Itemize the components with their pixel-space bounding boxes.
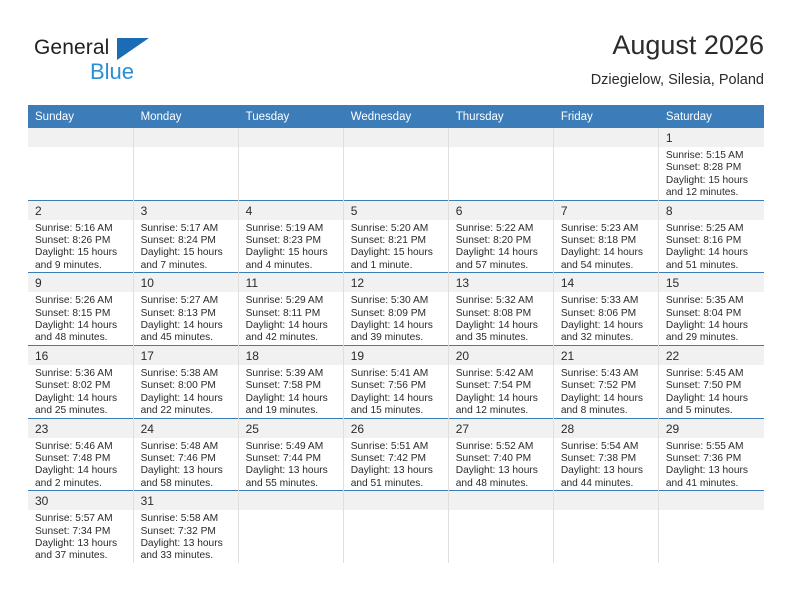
calendar-day-cell[interactable]: 20Sunrise: 5:42 AMSunset: 7:54 PMDayligh… xyxy=(448,345,553,418)
sunset-text: Sunset: 7:54 PM xyxy=(456,380,548,392)
sunset-text: Sunset: 7:56 PM xyxy=(351,380,443,392)
day-number: 16 xyxy=(28,346,133,365)
day-details: Sunrise: 5:25 AMSunset: 8:16 PMDaylight:… xyxy=(659,220,764,273)
daylight-text-line1: Daylight: 14 hours xyxy=(561,393,653,405)
calendar-page: General Blue August 2026 Dziegielow, Sil… xyxy=(0,0,792,612)
daylight-text-line2: and 19 minutes. xyxy=(246,405,338,417)
day-number: 13 xyxy=(449,273,553,292)
daylight-text-line2: and 22 minutes. xyxy=(141,405,233,417)
calendar-day-cell[interactable]: 2Sunrise: 5:16 AMSunset: 8:26 PMDaylight… xyxy=(28,200,133,273)
day-number: 25 xyxy=(239,419,343,438)
sunrise-text: Sunrise: 5:51 AM xyxy=(351,441,443,453)
sunset-text: Sunset: 8:13 PM xyxy=(141,308,233,320)
daylight-text-line1: Daylight: 14 hours xyxy=(246,320,338,332)
daylight-text-line1: Daylight: 15 hours xyxy=(141,247,233,259)
calendar-day-cell[interactable]: 18Sunrise: 5:39 AMSunset: 7:58 PMDayligh… xyxy=(238,345,343,418)
sunrise-text: Sunrise: 5:20 AM xyxy=(351,223,443,235)
day-number xyxy=(449,128,553,147)
sunrise-text: Sunrise: 5:15 AM xyxy=(666,150,759,162)
calendar-week-row: 1Sunrise: 5:15 AMSunset: 8:28 PMDaylight… xyxy=(28,128,764,200)
sunrise-text: Sunrise: 5:25 AM xyxy=(666,223,759,235)
sunset-text: Sunset: 7:38 PM xyxy=(561,453,653,465)
sunset-text: Sunset: 7:48 PM xyxy=(35,453,128,465)
daylight-text-line2: and 55 minutes. xyxy=(246,478,338,490)
calendar-cell-empty xyxy=(343,128,448,200)
sunrise-text: Sunrise: 5:41 AM xyxy=(351,368,443,380)
calendar-day-cell[interactable]: 8Sunrise: 5:25 AMSunset: 8:16 PMDaylight… xyxy=(658,200,763,273)
daylight-text-line1: Daylight: 14 hours xyxy=(351,393,443,405)
daylight-text-line2: and 42 minutes. xyxy=(246,332,338,344)
daylight-text-line2: and 51 minutes. xyxy=(666,260,759,272)
day-number: 20 xyxy=(449,346,553,365)
sunrise-text: Sunrise: 5:43 AM xyxy=(561,368,653,380)
calendar-day-cell[interactable]: 10Sunrise: 5:27 AMSunset: 8:13 PMDayligh… xyxy=(133,273,238,346)
daylight-text-line1: Daylight: 14 hours xyxy=(141,320,233,332)
daylight-text-line1: Daylight: 14 hours xyxy=(351,320,443,332)
day-number: 2 xyxy=(28,201,133,220)
calendar-day-cell[interactable]: 14Sunrise: 5:33 AMSunset: 8:06 PMDayligh… xyxy=(553,273,658,346)
calendar-day-cell[interactable]: 4Sunrise: 5:19 AMSunset: 8:23 PMDaylight… xyxy=(238,200,343,273)
calendar-cell-empty xyxy=(238,128,343,200)
sunrise-text: Sunrise: 5:55 AM xyxy=(666,441,759,453)
daylight-text-line1: Daylight: 15 hours xyxy=(246,247,338,259)
sunset-text: Sunset: 7:36 PM xyxy=(666,453,759,465)
calendar-day-cell[interactable]: 24Sunrise: 5:48 AMSunset: 7:46 PMDayligh… xyxy=(133,418,238,491)
daylight-text-line1: Daylight: 14 hours xyxy=(666,320,759,332)
daylight-text-line2: and 12 minutes. xyxy=(666,187,759,199)
daylight-text-line2: and 37 minutes. xyxy=(35,550,128,562)
day-details: Sunrise: 5:51 AMSunset: 7:42 PMDaylight:… xyxy=(344,438,448,491)
day-number: 4 xyxy=(239,201,343,220)
daylight-text-line1: Daylight: 13 hours xyxy=(246,465,338,477)
day-details: Sunrise: 5:19 AMSunset: 8:23 PMDaylight:… xyxy=(239,220,343,273)
calendar-cell-empty xyxy=(133,128,238,200)
calendar-week-row: 16Sunrise: 5:36 AMSunset: 8:02 PMDayligh… xyxy=(28,345,764,418)
daylight-text-line1: Daylight: 14 hours xyxy=(561,247,653,259)
weekday-header-saturday: Saturday xyxy=(658,105,763,128)
daylight-text-line1: Daylight: 13 hours xyxy=(351,465,443,477)
sunset-text: Sunset: 8:02 PM xyxy=(35,380,128,392)
day-details: Sunrise: 5:20 AMSunset: 8:21 PMDaylight:… xyxy=(344,220,448,273)
day-number: 26 xyxy=(344,419,448,438)
day-number: 22 xyxy=(659,346,764,365)
weekday-header-tuesday: Tuesday xyxy=(238,105,343,128)
day-details: Sunrise: 5:23 AMSunset: 8:18 PMDaylight:… xyxy=(554,220,658,273)
calendar-day-cell[interactable]: 12Sunrise: 5:30 AMSunset: 8:09 PMDayligh… xyxy=(343,273,448,346)
day-number: 19 xyxy=(344,346,448,365)
title-block: August 2026 Dziegielow, Silesia, Poland xyxy=(591,28,764,91)
sunrise-text: Sunrise: 5:19 AM xyxy=(246,223,338,235)
sunset-text: Sunset: 7:46 PM xyxy=(141,453,233,465)
day-details: Sunrise: 5:32 AMSunset: 8:08 PMDaylight:… xyxy=(449,292,553,345)
sunrise-text: Sunrise: 5:57 AM xyxy=(35,513,128,525)
sunset-text: Sunset: 8:04 PM xyxy=(666,308,759,320)
sunset-text: Sunset: 8:20 PM xyxy=(456,235,548,247)
daylight-text-line1: Daylight: 14 hours xyxy=(35,393,128,405)
day-number xyxy=(28,128,133,147)
sunrise-text: Sunrise: 5:52 AM xyxy=(456,441,548,453)
sunset-text: Sunset: 8:26 PM xyxy=(35,235,128,247)
day-number: 10 xyxy=(134,273,238,292)
calendar-day-cell[interactable]: 11Sunrise: 5:29 AMSunset: 8:11 PMDayligh… xyxy=(238,273,343,346)
page-header: General Blue August 2026 Dziegielow, Sil… xyxy=(28,28,764,98)
day-details: Sunrise: 5:33 AMSunset: 8:06 PMDaylight:… xyxy=(554,292,658,345)
daylight-text-line2: and 32 minutes. xyxy=(561,332,653,344)
sunrise-text: Sunrise: 5:32 AM xyxy=(456,295,548,307)
calendar-cell-empty xyxy=(343,491,448,563)
sunrise-text: Sunrise: 5:38 AM xyxy=(141,368,233,380)
daylight-text-line2: and 48 minutes. xyxy=(456,478,548,490)
sunset-text: Sunset: 8:08 PM xyxy=(456,308,548,320)
daylight-text-line2: and 7 minutes. xyxy=(141,260,233,272)
day-number: 28 xyxy=(554,419,658,438)
sunrise-text: Sunrise: 5:45 AM xyxy=(666,368,759,380)
sunrise-text: Sunrise: 5:27 AM xyxy=(141,295,233,307)
day-number xyxy=(344,491,448,510)
day-details: Sunrise: 5:43 AMSunset: 7:52 PMDaylight:… xyxy=(554,365,658,418)
calendar-day-cell[interactable]: 13Sunrise: 5:32 AMSunset: 8:08 PMDayligh… xyxy=(448,273,553,346)
calendar-cell-empty xyxy=(658,491,763,563)
calendar-day-cell[interactable]: 23Sunrise: 5:46 AMSunset: 7:48 PMDayligh… xyxy=(28,418,133,491)
daylight-text-line2: and 35 minutes. xyxy=(456,332,548,344)
calendar-day-cell[interactable]: 22Sunrise: 5:45 AMSunset: 7:50 PMDayligh… xyxy=(658,345,763,418)
calendar-day-cell[interactable]: 3Sunrise: 5:17 AMSunset: 8:24 PMDaylight… xyxy=(133,200,238,273)
day-number xyxy=(134,128,238,147)
day-number: 3 xyxy=(134,201,238,220)
calendar-day-cell[interactable]: 31Sunrise: 5:58 AMSunset: 7:32 PMDayligh… xyxy=(133,491,238,563)
daylight-text-line2: and 1 minute. xyxy=(351,260,443,272)
day-details: Sunrise: 5:17 AMSunset: 8:24 PMDaylight:… xyxy=(134,220,238,273)
day-details: Sunrise: 5:27 AMSunset: 8:13 PMDaylight:… xyxy=(134,292,238,345)
weekday-header-friday: Friday xyxy=(553,105,658,128)
day-details: Sunrise: 5:58 AMSunset: 7:32 PMDaylight:… xyxy=(134,510,238,563)
day-number: 27 xyxy=(449,419,553,438)
daylight-text-line1: Daylight: 14 hours xyxy=(456,320,548,332)
daylight-text-line1: Daylight: 15 hours xyxy=(351,247,443,259)
day-number: 7 xyxy=(554,201,658,220)
day-details: Sunrise: 5:46 AMSunset: 7:48 PMDaylight:… xyxy=(28,438,133,491)
weekday-header-monday: Monday xyxy=(133,105,238,128)
calendar-week-row: 2Sunrise: 5:16 AMSunset: 8:26 PMDaylight… xyxy=(28,200,764,273)
day-details: Sunrise: 5:42 AMSunset: 7:54 PMDaylight:… xyxy=(449,365,553,418)
day-number: 30 xyxy=(28,491,133,510)
day-details: Sunrise: 5:54 AMSunset: 7:38 PMDaylight:… xyxy=(554,438,658,491)
daylight-text-line1: Daylight: 14 hours xyxy=(456,247,548,259)
daylight-text-line2: and 15 minutes. xyxy=(351,405,443,417)
daylight-text-line1: Daylight: 14 hours xyxy=(141,393,233,405)
weekday-header-row: Sunday Monday Tuesday Wednesday Thursday… xyxy=(28,105,764,128)
sunrise-text: Sunrise: 5:29 AM xyxy=(246,295,338,307)
calendar-day-cell[interactable]: 9Sunrise: 5:26 AMSunset: 8:15 PMDaylight… xyxy=(28,273,133,346)
sunrise-text: Sunrise: 5:22 AM xyxy=(456,223,548,235)
sunset-text: Sunset: 7:40 PM xyxy=(456,453,548,465)
daylight-text-line1: Daylight: 15 hours xyxy=(35,247,128,259)
logo-text-general: General xyxy=(34,36,109,60)
day-number xyxy=(239,128,343,147)
calendar-day-cell[interactable]: 28Sunrise: 5:54 AMSunset: 7:38 PMDayligh… xyxy=(553,418,658,491)
calendar-day-cell[interactable]: 26Sunrise: 5:51 AMSunset: 7:42 PMDayligh… xyxy=(343,418,448,491)
day-number: 18 xyxy=(239,346,343,365)
daylight-text-line2: and 41 minutes. xyxy=(666,478,759,490)
daylight-text-line2: and 57 minutes. xyxy=(456,260,548,272)
day-details: Sunrise: 5:52 AMSunset: 7:40 PMDaylight:… xyxy=(449,438,553,491)
day-details: Sunrise: 5:55 AMSunset: 7:36 PMDaylight:… xyxy=(659,438,764,491)
calendar-day-cell[interactable]: 19Sunrise: 5:41 AMSunset: 7:56 PMDayligh… xyxy=(343,345,448,418)
daylight-text-line2: and 33 minutes. xyxy=(141,550,233,562)
day-details: Sunrise: 5:41 AMSunset: 7:56 PMDaylight:… xyxy=(344,365,448,418)
day-number: 14 xyxy=(554,273,658,292)
calendar-cell-empty xyxy=(553,128,658,200)
calendar-day-cell[interactable]: 30Sunrise: 5:57 AMSunset: 7:34 PMDayligh… xyxy=(28,491,133,563)
calendar-day-cell[interactable]: 7Sunrise: 5:23 AMSunset: 8:18 PMDaylight… xyxy=(553,200,658,273)
daylight-text-line2: and 58 minutes. xyxy=(141,478,233,490)
daylight-text-line2: and 25 minutes. xyxy=(35,405,128,417)
calendar-cell-empty xyxy=(28,128,133,200)
daylight-text-line1: Daylight: 15 hours xyxy=(666,175,759,187)
calendar-day-cell[interactable]: 16Sunrise: 5:36 AMSunset: 8:02 PMDayligh… xyxy=(28,345,133,418)
day-number: 8 xyxy=(659,201,764,220)
daylight-text-line2: and 9 minutes. xyxy=(35,260,128,272)
day-details: Sunrise: 5:39 AMSunset: 7:58 PMDaylight:… xyxy=(239,365,343,418)
general-blue-logo[interactable]: General Blue xyxy=(34,36,204,92)
daylight-text-line1: Daylight: 13 hours xyxy=(141,465,233,477)
daylight-text-line2: and 2 minutes. xyxy=(35,478,128,490)
day-number: 29 xyxy=(659,419,764,438)
day-details: Sunrise: 5:22 AMSunset: 8:20 PMDaylight:… xyxy=(449,220,553,273)
daylight-text-line2: and 39 minutes. xyxy=(351,332,443,344)
daylight-text-line2: and 48 minutes. xyxy=(35,332,128,344)
sunrise-text: Sunrise: 5:17 AM xyxy=(141,223,233,235)
page-subtitle-location: Dziegielow, Silesia, Poland xyxy=(591,69,764,91)
calendar-day-cell[interactable]: 5Sunrise: 5:20 AMSunset: 8:21 PMDaylight… xyxy=(343,200,448,273)
sunset-text: Sunset: 8:24 PM xyxy=(141,235,233,247)
calendar-cell-empty xyxy=(553,491,658,563)
sunset-text: Sunset: 8:16 PM xyxy=(666,235,759,247)
daylight-text-line1: Daylight: 13 hours xyxy=(35,538,128,550)
sunrise-text: Sunrise: 5:58 AM xyxy=(141,513,233,525)
sunset-text: Sunset: 8:28 PM xyxy=(666,162,759,174)
calendar-day-cell[interactable]: 21Sunrise: 5:43 AMSunset: 7:52 PMDayligh… xyxy=(553,345,658,418)
calendar-cell-empty xyxy=(238,491,343,563)
daylight-text-line1: Daylight: 14 hours xyxy=(456,393,548,405)
weekday-header-thursday: Thursday xyxy=(448,105,553,128)
calendar-day-cell[interactable]: 25Sunrise: 5:49 AMSunset: 7:44 PMDayligh… xyxy=(238,418,343,491)
daylight-text-line1: Daylight: 14 hours xyxy=(35,320,128,332)
sunrise-text: Sunrise: 5:42 AM xyxy=(456,368,548,380)
daylight-text-line1: Daylight: 14 hours xyxy=(666,393,759,405)
sunset-text: Sunset: 7:52 PM xyxy=(561,380,653,392)
day-details: Sunrise: 5:26 AMSunset: 8:15 PMDaylight:… xyxy=(28,292,133,345)
day-number xyxy=(554,128,658,147)
sunset-text: Sunset: 8:21 PM xyxy=(351,235,443,247)
day-details: Sunrise: 5:49 AMSunset: 7:44 PMDaylight:… xyxy=(239,438,343,491)
daylight-text-line1: Daylight: 14 hours xyxy=(666,247,759,259)
sunset-text: Sunset: 8:11 PM xyxy=(246,308,338,320)
sunrise-text: Sunrise: 5:48 AM xyxy=(141,441,233,453)
day-number xyxy=(239,491,343,510)
daylight-text-line1: Daylight: 13 hours xyxy=(561,465,653,477)
day-details: Sunrise: 5:16 AMSunset: 8:26 PMDaylight:… xyxy=(28,220,133,273)
calendar-day-cell[interactable]: 29Sunrise: 5:55 AMSunset: 7:36 PMDayligh… xyxy=(658,418,763,491)
daylight-text-line2: and 12 minutes. xyxy=(456,405,548,417)
sunrise-text: Sunrise: 5:16 AM xyxy=(35,223,128,235)
day-number xyxy=(449,491,553,510)
day-number: 1 xyxy=(659,128,764,147)
calendar-day-cell[interactable]: 1Sunrise: 5:15 AMSunset: 8:28 PMDaylight… xyxy=(658,128,763,200)
sunrise-text: Sunrise: 5:33 AM xyxy=(561,295,653,307)
logo-text-blue: Blue xyxy=(90,59,134,85)
daylight-text-line1: Daylight: 14 hours xyxy=(246,393,338,405)
calendar-cell-empty xyxy=(448,128,553,200)
daylight-text-line1: Daylight: 13 hours xyxy=(456,465,548,477)
day-number: 15 xyxy=(659,273,764,292)
sunset-text: Sunset: 8:15 PM xyxy=(35,308,128,320)
weekday-header-sunday: Sunday xyxy=(28,105,133,128)
daylight-text-line2: and 54 minutes. xyxy=(561,260,653,272)
sunset-text: Sunset: 7:34 PM xyxy=(35,526,128,538)
sunrise-text: Sunrise: 5:23 AM xyxy=(561,223,653,235)
daylight-text-line2: and 5 minutes. xyxy=(666,405,759,417)
sunrise-text: Sunrise: 5:46 AM xyxy=(35,441,128,453)
day-details: Sunrise: 5:15 AMSunset: 8:28 PMDaylight:… xyxy=(659,147,764,200)
sunrise-text: Sunrise: 5:36 AM xyxy=(35,368,128,380)
sunrise-text: Sunrise: 5:30 AM xyxy=(351,295,443,307)
calendar-day-cell[interactable]: 27Sunrise: 5:52 AMSunset: 7:40 PMDayligh… xyxy=(448,418,553,491)
page-title: August 2026 xyxy=(591,28,764,62)
sunset-text: Sunset: 8:18 PM xyxy=(561,235,653,247)
day-details: Sunrise: 5:35 AMSunset: 8:04 PMDaylight:… xyxy=(659,292,764,345)
day-number: 17 xyxy=(134,346,238,365)
day-details: Sunrise: 5:57 AMSunset: 7:34 PMDaylight:… xyxy=(28,510,133,563)
sunset-text: Sunset: 8:09 PM xyxy=(351,308,443,320)
day-details: Sunrise: 5:38 AMSunset: 8:00 PMDaylight:… xyxy=(134,365,238,418)
daylight-text-line2: and 51 minutes. xyxy=(351,478,443,490)
day-number: 12 xyxy=(344,273,448,292)
day-number: 5 xyxy=(344,201,448,220)
sunrise-text: Sunrise: 5:54 AM xyxy=(561,441,653,453)
sunrise-text: Sunrise: 5:39 AM xyxy=(246,368,338,380)
day-number: 21 xyxy=(554,346,658,365)
day-number: 24 xyxy=(134,419,238,438)
sunset-text: Sunset: 7:44 PM xyxy=(246,453,338,465)
day-number: 31 xyxy=(134,491,238,510)
daylight-text-line2: and 8 minutes. xyxy=(561,405,653,417)
calendar-table: Sunday Monday Tuesday Wednesday Thursday… xyxy=(28,105,764,563)
weekday-header-wednesday: Wednesday xyxy=(343,105,448,128)
sunset-text: Sunset: 8:06 PM xyxy=(561,308,653,320)
calendar-body: 1Sunrise: 5:15 AMSunset: 8:28 PMDaylight… xyxy=(28,128,764,563)
day-number xyxy=(554,491,658,510)
daylight-text-line2: and 4 minutes. xyxy=(246,260,338,272)
daylight-text-line1: Daylight: 13 hours xyxy=(141,538,233,550)
day-number: 9 xyxy=(28,273,133,292)
daylight-text-line2: and 44 minutes. xyxy=(561,478,653,490)
sunset-text: Sunset: 8:00 PM xyxy=(141,380,233,392)
calendar-week-row: 30Sunrise: 5:57 AMSunset: 7:34 PMDayligh… xyxy=(28,491,764,563)
day-details: Sunrise: 5:30 AMSunset: 8:09 PMDaylight:… xyxy=(344,292,448,345)
calendar-day-cell[interactable]: 6Sunrise: 5:22 AMSunset: 8:20 PMDaylight… xyxy=(448,200,553,273)
calendar-day-cell[interactable]: 17Sunrise: 5:38 AMSunset: 8:00 PMDayligh… xyxy=(133,345,238,418)
daylight-text-line2: and 45 minutes. xyxy=(141,332,233,344)
calendar-week-row: 9Sunrise: 5:26 AMSunset: 8:15 PMDaylight… xyxy=(28,273,764,346)
sunset-text: Sunset: 7:42 PM xyxy=(351,453,443,465)
sunrise-text: Sunrise: 5:26 AM xyxy=(35,295,128,307)
daylight-text-line1: Daylight: 14 hours xyxy=(35,465,128,477)
daylight-text-line1: Daylight: 14 hours xyxy=(561,320,653,332)
day-details: Sunrise: 5:45 AMSunset: 7:50 PMDaylight:… xyxy=(659,365,764,418)
sunset-text: Sunset: 7:58 PM xyxy=(246,380,338,392)
sunset-text: Sunset: 7:32 PM xyxy=(141,526,233,538)
calendar-cell-empty xyxy=(448,491,553,563)
day-number: 6 xyxy=(449,201,553,220)
day-number: 23 xyxy=(28,419,133,438)
day-details: Sunrise: 5:36 AMSunset: 8:02 PMDaylight:… xyxy=(28,365,133,418)
sunset-text: Sunset: 7:50 PM xyxy=(666,380,759,392)
daylight-text-line1: Daylight: 13 hours xyxy=(666,465,759,477)
logo-triangle-icon xyxy=(117,38,149,60)
day-number xyxy=(344,128,448,147)
daylight-text-line2: and 29 minutes. xyxy=(666,332,759,344)
sunrise-text: Sunrise: 5:49 AM xyxy=(246,441,338,453)
day-details: Sunrise: 5:29 AMSunset: 8:11 PMDaylight:… xyxy=(239,292,343,345)
sunset-text: Sunset: 8:23 PM xyxy=(246,235,338,247)
day-number: 11 xyxy=(239,273,343,292)
calendar-week-row: 23Sunrise: 5:46 AMSunset: 7:48 PMDayligh… xyxy=(28,418,764,491)
day-details: Sunrise: 5:48 AMSunset: 7:46 PMDaylight:… xyxy=(134,438,238,491)
day-number xyxy=(659,491,764,510)
calendar-day-cell[interactable]: 15Sunrise: 5:35 AMSunset: 8:04 PMDayligh… xyxy=(658,273,763,346)
sunrise-text: Sunrise: 5:35 AM xyxy=(666,295,759,307)
